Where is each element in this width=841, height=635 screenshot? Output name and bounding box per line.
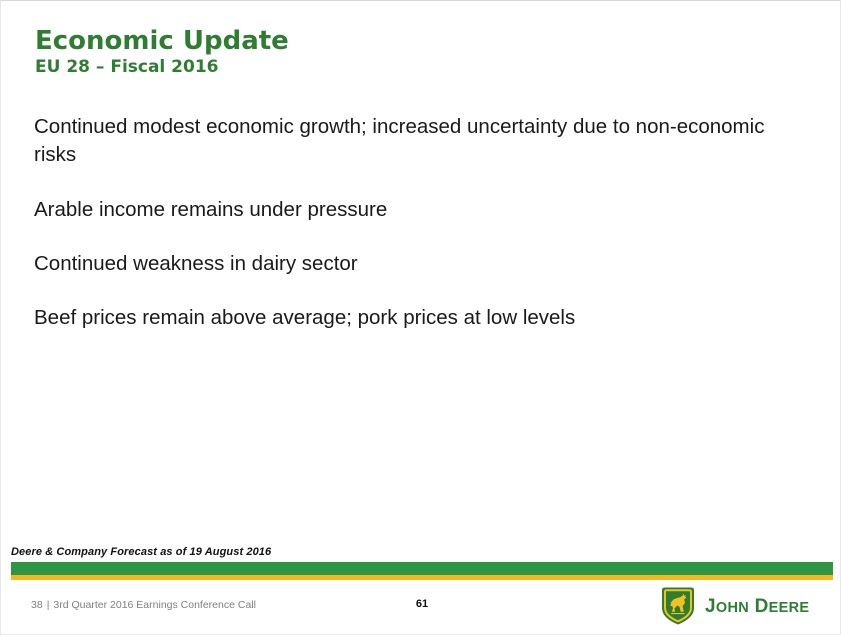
footer-slide-number: 38 (31, 599, 43, 611)
title-block: Economic Update EU 28 – Fiscal 2016 (35, 27, 795, 77)
john-deere-wordmark: JOHN DEERE (705, 597, 809, 616)
footer-deck-title: 3rd Quarter 2016 Earnings Conference Cal… (53, 599, 256, 611)
wordmark-j: J (705, 596, 716, 617)
slide-canvas: Economic Update EU 28 – Fiscal 2016 Cont… (0, 0, 841, 635)
page-subtitle: EU 28 – Fiscal 2016 (35, 57, 795, 77)
john-deere-logo: JOHN DEERE (659, 584, 814, 628)
footer-meta: 38|3rd Quarter 2016 Earnings Conference … (31, 599, 256, 611)
body-paragraph-1: Continued modest economic growth; increa… (34, 113, 809, 170)
green-divider-bar (11, 562, 833, 575)
source-footnote: Deere & Company Forecast as of 19 August… (11, 546, 271, 558)
page-number: 61 (401, 598, 443, 610)
wordmark-ohn: OHN (716, 600, 749, 616)
page-title: Economic Update (35, 27, 795, 55)
wordmark-d: D (755, 596, 769, 617)
gold-divider-bar (11, 575, 833, 580)
body-paragraph-4: Beef prices remain above average; pork p… (34, 304, 809, 332)
footer-separator: | (43, 599, 54, 611)
body-paragraph-3: Continued weakness in dairy sector (34, 250, 809, 278)
body-content: Continued modest economic growth; increa… (34, 113, 809, 332)
wordmark-eere: EERE (769, 600, 810, 616)
john-deere-deer-icon (659, 586, 697, 626)
body-paragraph-2: Arable income remains under pressure (34, 196, 809, 224)
